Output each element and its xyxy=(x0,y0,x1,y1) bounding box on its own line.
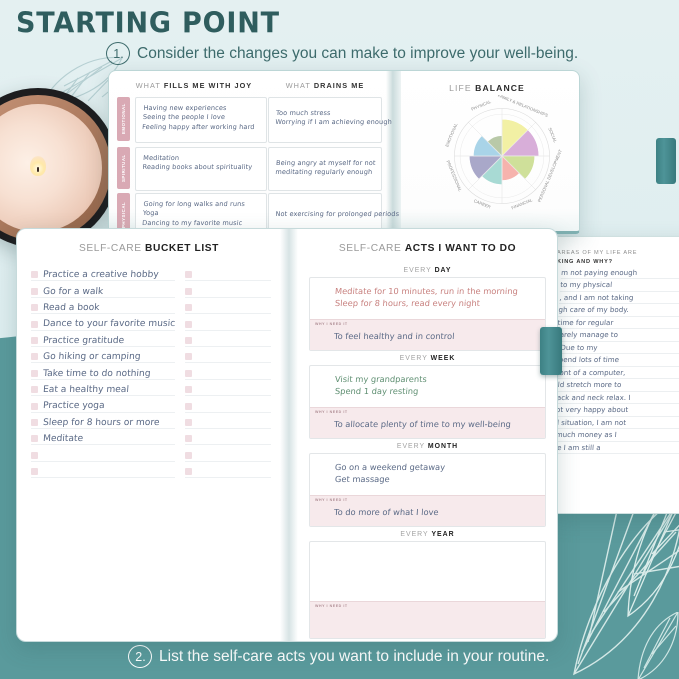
checkbox[interactable] xyxy=(31,403,38,410)
step-1-number: 1. xyxy=(106,42,130,65)
checkbox[interactable] xyxy=(31,337,38,344)
handwriting-line: ial situation, I am not xyxy=(550,417,679,429)
bucket-list-title: SELF-CARE BUCKET LIST xyxy=(17,243,281,254)
list-item[interactable] xyxy=(185,314,271,330)
list-item[interactable]: Practice gratitude xyxy=(31,331,175,347)
list-item-label: Go for a walk xyxy=(43,288,104,297)
step-1-caption: 1. Consider the changes you can make to … xyxy=(106,42,578,65)
wheel-label-7: PHYSICAL xyxy=(470,99,492,112)
checkbox[interactable] xyxy=(31,435,38,442)
handwriting-line: not very happy about xyxy=(551,404,679,416)
why-i-need-it-area[interactable]: WHY I NEED ITTo feel healthy and in cont… xyxy=(310,319,545,350)
list-item[interactable]: Eat a healthy meal xyxy=(31,380,175,396)
checkbox[interactable] xyxy=(185,271,192,278)
list-item[interactable] xyxy=(185,380,271,396)
list-item-label: Dance to your favorite music xyxy=(43,320,176,329)
list-item[interactable] xyxy=(185,281,271,297)
right-page-heading: AREAS OF MY LIFE ARE KING AND WHY? xyxy=(557,249,637,267)
list-item[interactable] xyxy=(185,396,271,412)
checkbox[interactable] xyxy=(31,452,38,459)
act-line: Get massage xyxy=(319,473,537,485)
wheel-label-5: PROFESSIONAL xyxy=(445,160,463,193)
wheel-label-0: FAMILY & RELATIONSHIPS xyxy=(497,95,549,118)
checkbox[interactable] xyxy=(185,403,192,410)
period-header-month: EVERY MONTH xyxy=(309,443,546,450)
cell-joy-spiritual[interactable]: MeditationReading books about spirituali… xyxy=(135,147,267,191)
why-line: To feel healthy and in control xyxy=(334,330,546,342)
act-line: Sleep for 8 hours, read every night xyxy=(319,297,537,309)
handwriting-line: uld stretch more to xyxy=(553,379,679,391)
handwriting-line: back and neck relax. I xyxy=(552,392,679,404)
right-page-body: m not paying enoughto my physical, and I… xyxy=(548,267,679,454)
act-line: Go on a weekend getaway xyxy=(319,461,537,473)
list-item[interactable] xyxy=(185,445,271,461)
journal-joy-and-drains: WHAT FILLS ME WITH JOY WHAT DRAINS ME EM… xyxy=(108,70,580,234)
why-i-need-it-text: To allocate plenty of time to my well-be… xyxy=(310,414,545,430)
checkbox[interactable] xyxy=(185,452,192,459)
act-line: Spend 1 day resting xyxy=(319,385,537,397)
checkbox[interactable] xyxy=(185,321,192,328)
act-line: Visit my grandparents xyxy=(319,373,537,385)
act-input-area[interactable]: Go on a weekend getawayGet massage xyxy=(310,454,545,495)
wheel-label-6: EMOTIONAL xyxy=(444,122,458,148)
list-item-label: Eat a healthy meal xyxy=(43,386,129,395)
journal-spine xyxy=(386,71,401,231)
list-item-label: Sleep for 8 hours or more xyxy=(43,419,160,428)
handwriting-line: front of a computer, xyxy=(554,367,679,379)
list-item[interactable] xyxy=(185,347,271,363)
checkbox[interactable] xyxy=(31,321,38,328)
list-item[interactable]: Practice a creative hobby xyxy=(31,265,175,281)
list-item[interactable] xyxy=(31,445,175,461)
checkbox[interactable] xyxy=(31,271,38,278)
wheel-label-1: SOCIAL xyxy=(547,127,558,144)
handwriting-line: s much money as I xyxy=(549,429,679,441)
act-input-area[interactable]: Meditate for 10 minutes, run in the morn… xyxy=(310,278,545,319)
checkbox[interactable] xyxy=(31,304,38,311)
life-balance-title: LIFE BALANCE xyxy=(397,83,577,93)
handwriting-line: , and I am not taking xyxy=(559,292,679,304)
checkbox[interactable] xyxy=(31,288,38,295)
checkbox[interactable] xyxy=(31,353,38,360)
handwriting-text: Being angry at myself for notmeditating … xyxy=(268,148,382,178)
bucket-list-columns: Practice a creative hobbyGo for a walkRe… xyxy=(31,265,271,478)
act-block-week[interactable]: Visit my grandparentsSpend 1 day resting… xyxy=(309,365,546,439)
checkbox[interactable] xyxy=(185,468,192,475)
list-item[interactable] xyxy=(185,265,271,281)
list-item-label: Read a book xyxy=(43,304,100,313)
checkbox[interactable] xyxy=(185,435,192,442)
cell-drains-spiritual[interactable]: Being angry at myself for notmeditating … xyxy=(268,147,382,191)
screenshot-canvas: STARTING POINT 1. Consider the changes y… xyxy=(0,0,679,679)
handwriting-line: spend lots of time xyxy=(555,354,679,366)
list-item[interactable]: Go hiking or camping xyxy=(31,347,175,363)
list-item[interactable] xyxy=(185,462,271,478)
right-page-heading-light: AREAS OF MY LIFE ARE xyxy=(557,250,637,256)
journal-elastic-band xyxy=(656,138,676,184)
handwriting-text: Too much stressWorrying if I am achievin… xyxy=(268,98,382,128)
list-item[interactable]: Read a book xyxy=(31,298,175,314)
column-header-drains: WHAT DRAINS ME xyxy=(266,81,384,90)
checkbox[interactable] xyxy=(31,386,38,393)
act-input-area[interactable]: Visit my grandparentsSpend 1 day resting xyxy=(310,366,545,407)
list-item[interactable] xyxy=(185,363,271,379)
handwriting-line: to my physical xyxy=(560,279,679,291)
list-item-label: Practice yoga xyxy=(43,402,105,411)
handwriting-text: Having new experiencesSeeing the people … xyxy=(135,98,267,132)
list-item[interactable] xyxy=(185,429,271,445)
life-balance-wheel-chart: FAMILY & RELATIONSHIPSSOCIALPERSONAL DEV… xyxy=(441,95,563,217)
period-header-day: EVERY DAY xyxy=(309,267,546,274)
handwriting-line: use I am still a xyxy=(548,442,679,454)
checkbox[interactable] xyxy=(185,386,192,393)
page-title: STARTING POINT xyxy=(16,7,280,40)
list-item[interactable]: Meditate xyxy=(31,429,175,445)
list-item-label: Take time to do nothing xyxy=(43,370,151,379)
step-1-text: Consider the changes you can make to imp… xyxy=(137,45,578,63)
wheel-label-4: CAREER xyxy=(473,198,491,209)
handwriting-line: time for regular xyxy=(557,317,679,329)
bucket-list-column-right xyxy=(185,265,271,478)
candle-wick xyxy=(37,167,39,172)
checkbox[interactable] xyxy=(31,370,38,377)
checkbox[interactable] xyxy=(185,337,192,344)
act-block-day[interactable]: Meditate for 10 minutes, run in the morn… xyxy=(309,277,546,351)
category-tab-emotional: EMOTIONAL xyxy=(117,97,130,141)
bucket-list-column-left: Practice a creative hobbyGo for a walkRe… xyxy=(31,265,175,478)
right-page-heading-bold: KING AND WHY? xyxy=(557,259,613,265)
checkbox[interactable] xyxy=(185,370,192,377)
handwriting-line: m not paying enough xyxy=(561,267,679,279)
list-item[interactable]: Take time to do nothing xyxy=(31,363,175,379)
list-item[interactable] xyxy=(185,413,271,429)
handwriting-line: rarely manage to xyxy=(556,329,679,341)
cell-joy-emotional[interactable]: Having new experiencesSeeing the people … xyxy=(135,97,267,143)
handwriting-line: gh care of my body. xyxy=(558,304,679,316)
checkbox[interactable] xyxy=(185,288,192,295)
category-tab-spiritual: SPIRITUAL xyxy=(117,147,130,189)
why-i-need-it-area[interactable]: WHY I NEED ITTo allocate plenty of time … xyxy=(310,407,545,438)
act-line: Meditate for 10 minutes, run in the morn… xyxy=(319,285,537,297)
list-item[interactable]: Practice yoga xyxy=(31,396,175,412)
list-item-label: Go hiking or camping xyxy=(43,353,141,362)
handwriting-line: . Due to my xyxy=(555,342,679,354)
checkbox[interactable] xyxy=(185,419,192,426)
journal-areas-of-my-life: AREAS OF MY LIFE ARE KING AND WHY? m not… xyxy=(548,236,679,514)
period-header-week: EVERY WEEK xyxy=(309,355,546,362)
checkbox[interactable] xyxy=(31,419,38,426)
list-item-label: Practice gratitude xyxy=(43,337,125,346)
list-item[interactable]: Sleep for 8 hours or more xyxy=(31,413,175,429)
journal-elastic-band xyxy=(540,327,562,375)
checkbox[interactable] xyxy=(31,468,38,475)
list-item[interactable] xyxy=(185,298,271,314)
acts-title: SELF-CARE ACTS I WANT TO DO xyxy=(298,243,557,254)
list-item-label: Meditate xyxy=(43,435,84,444)
checkbox[interactable] xyxy=(185,353,192,360)
candle-flame-icon xyxy=(30,156,46,176)
list-item[interactable]: Go for a walk xyxy=(31,281,175,297)
list-item[interactable] xyxy=(31,462,175,478)
list-item[interactable]: Dance to your favorite music xyxy=(31,314,175,330)
handwriting-text: Not exercising for prolonged periods xyxy=(268,194,382,219)
list-item-label: Practice a creative hobby xyxy=(43,271,159,280)
handwriting-text: MeditationReading books about spirituali… xyxy=(135,148,267,173)
list-item[interactable] xyxy=(185,331,271,347)
checkbox[interactable] xyxy=(185,304,192,311)
why-i-need-it-text: To feel healthy and in control xyxy=(310,326,545,342)
why-line: To allocate plenty of time to my well-be… xyxy=(334,418,546,430)
cell-drains-emotional[interactable]: Too much stressWorrying if I am achievin… xyxy=(268,97,382,143)
column-header-joy: WHAT FILLS ME WITH JOY xyxy=(129,81,259,90)
handwriting-text: Going for long walks and runsYogaDancing… xyxy=(135,194,267,228)
